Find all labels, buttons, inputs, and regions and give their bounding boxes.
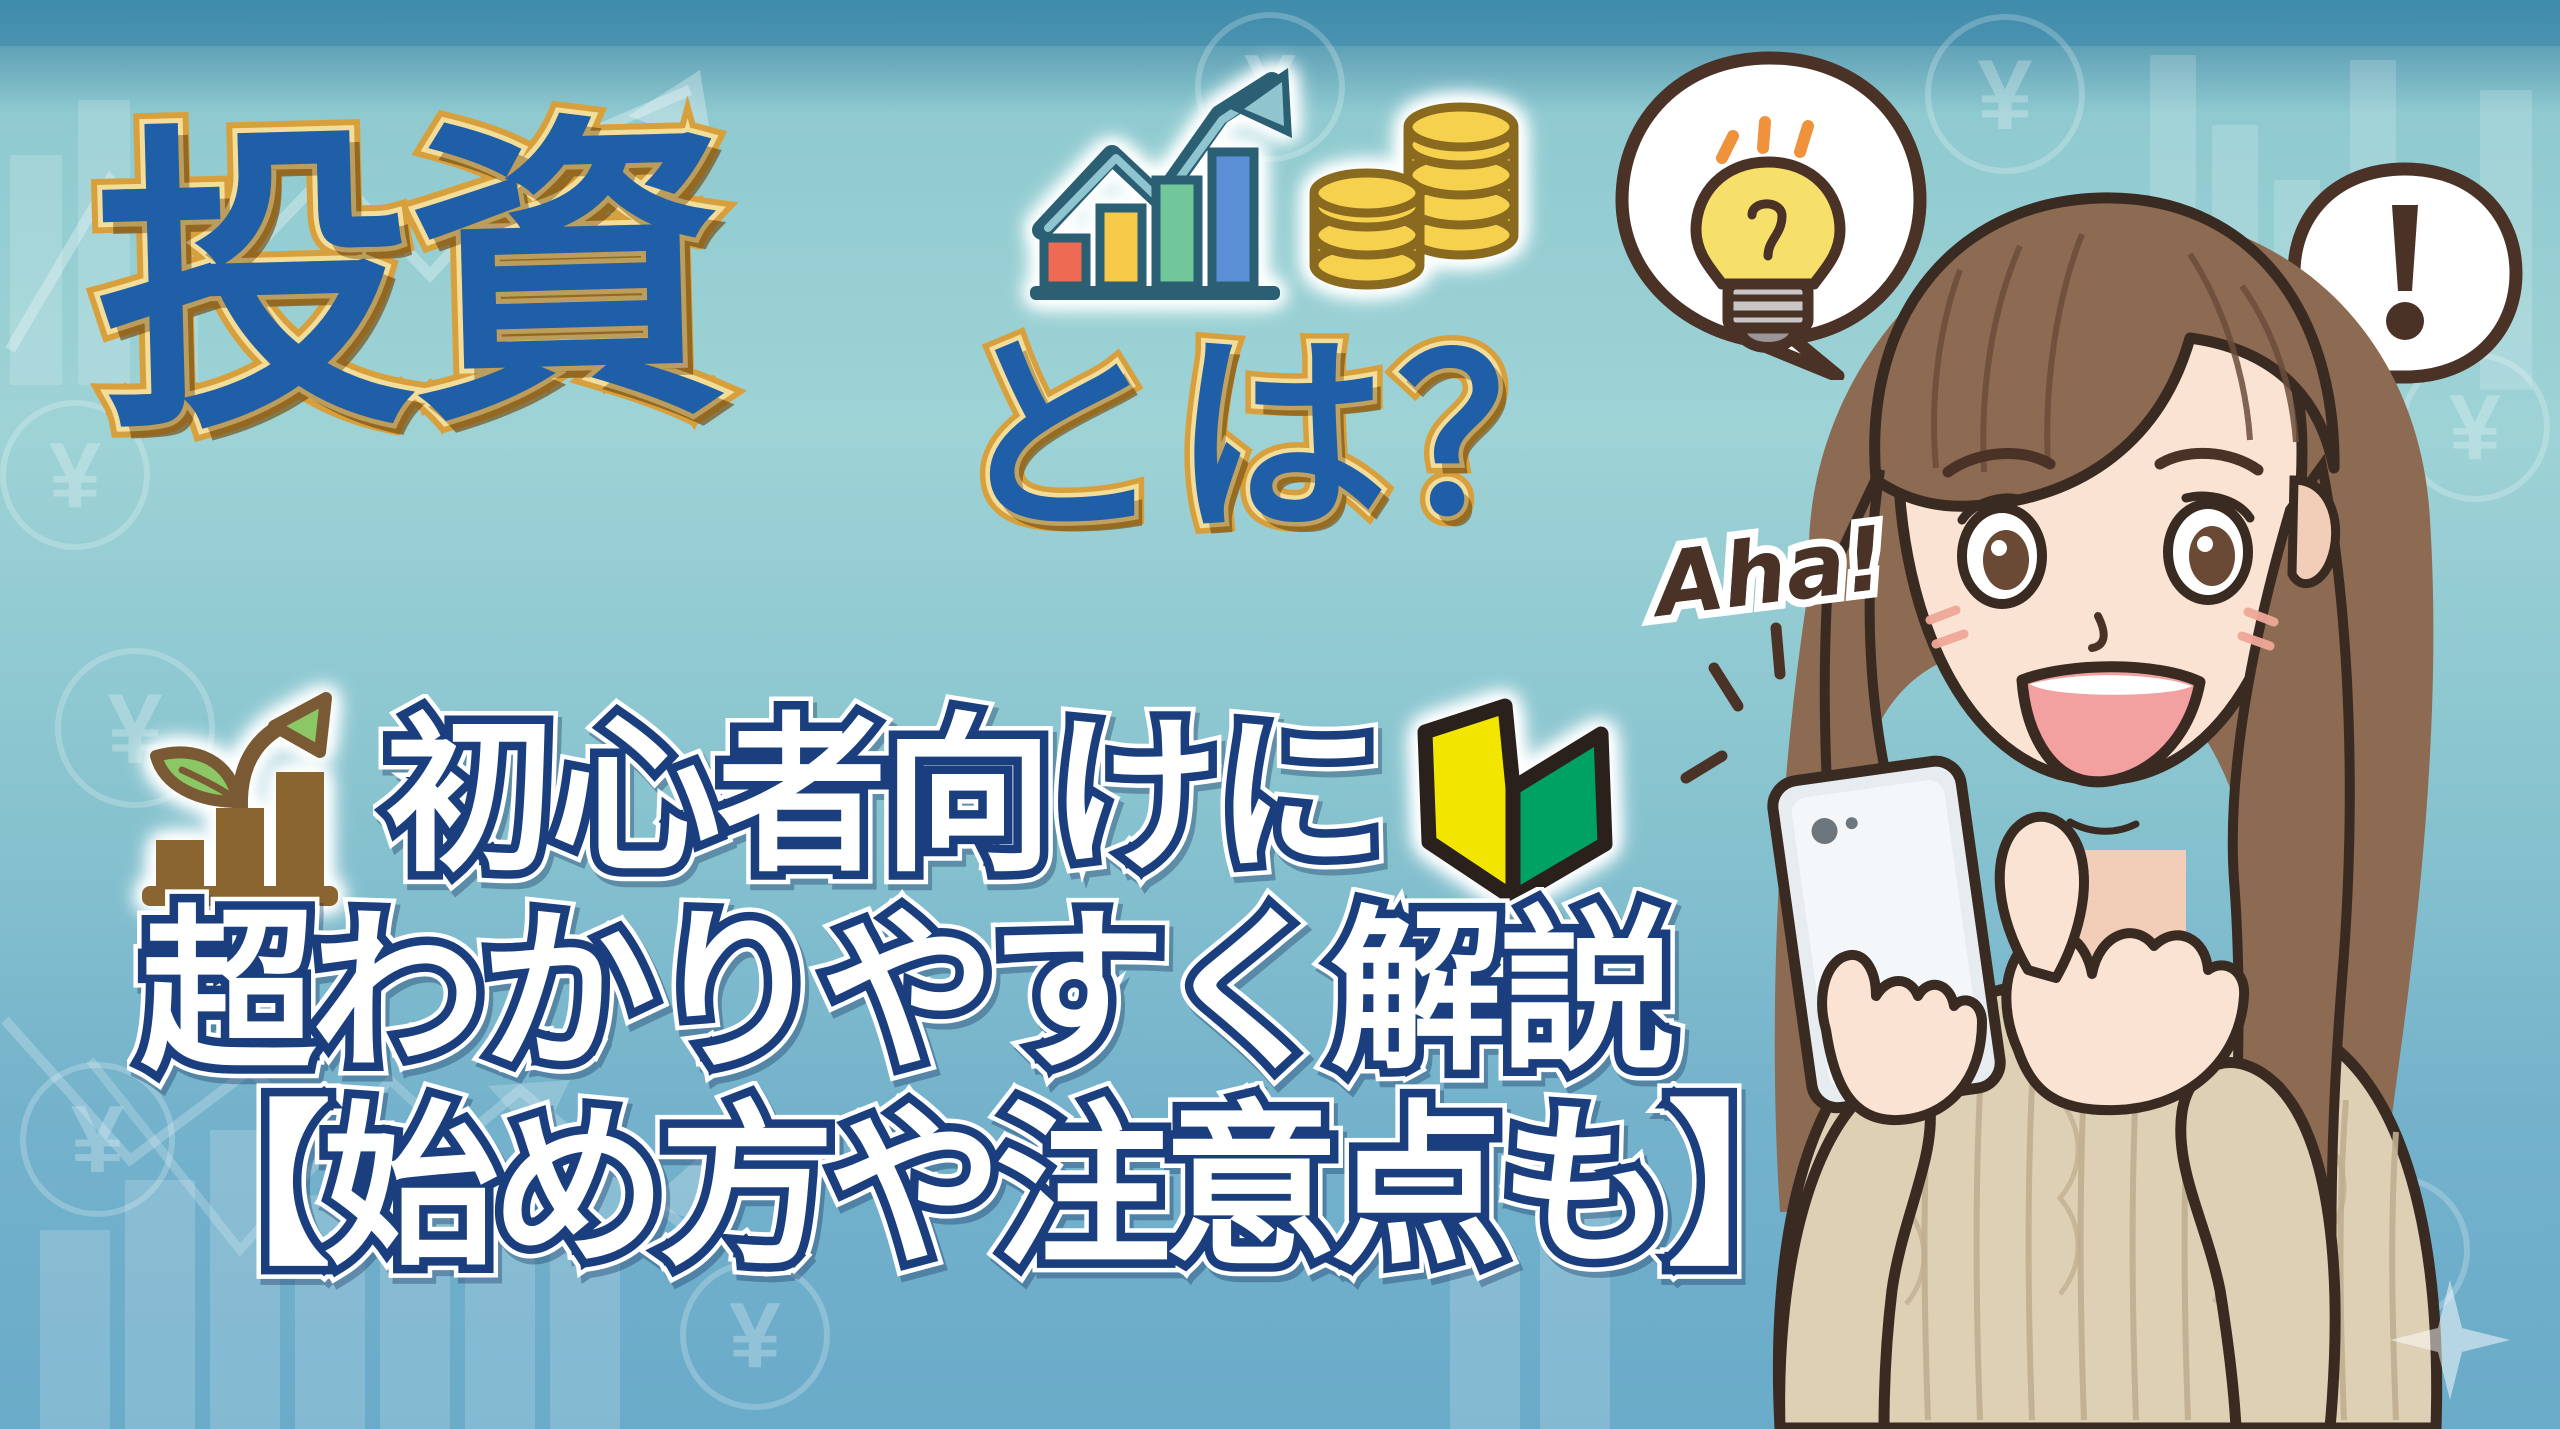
subtitle-line-3: 【始め方や注意点も】 【始め方や注意点も】 【始め方や注意点も】 bbox=[155, 1100, 1835, 1276]
page-title-main: 投資 投資 bbox=[91, 112, 727, 448]
background-bar bbox=[10, 155, 62, 385]
thumbnail-canvas: ¥¥¥¥¥¥¥¥ bbox=[0, 0, 2560, 1429]
title-question-inner: とは？ bbox=[950, 330, 1619, 545]
bar-chart-growth-icon bbox=[1020, 60, 1320, 315]
subtitle-line-1: 初心者向けに 初心者向けに 初心者向けに bbox=[385, 712, 1381, 882]
subtitle-line-2: 超わかりやすく解説 超わかりやすく解説 超わかりやすく解説 bbox=[140, 905, 1670, 1081]
sparkle-icon bbox=[2380, 1270, 2530, 1420]
subtitle-1-fill: 初心者向けに bbox=[385, 712, 1381, 882]
title-main-inner: 投資 bbox=[91, 112, 727, 448]
background-bar bbox=[40, 1230, 110, 1429]
coin-stack-icon bbox=[1300, 85, 1530, 310]
shoshinsha-beginner-mark-icon bbox=[1405, 692, 1625, 922]
subtitle-3-fill: 【始め方や注意点も】 bbox=[155, 1100, 1835, 1276]
page-title-question: とは？ とは？ bbox=[950, 330, 1619, 545]
sprout-growth-chart-icon bbox=[120, 690, 350, 915]
subtitle-2-fill: 超わかりやすく解説 bbox=[140, 905, 1670, 1081]
